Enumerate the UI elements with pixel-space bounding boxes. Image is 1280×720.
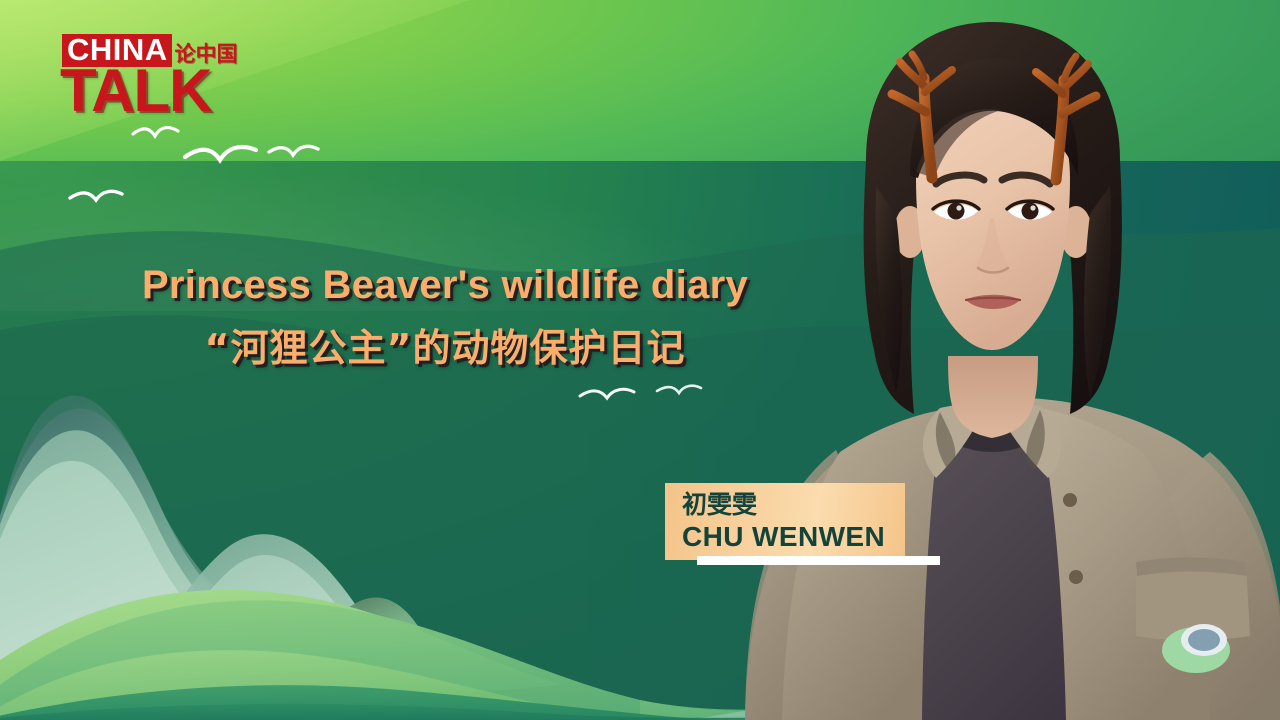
bird-icon bbox=[133, 128, 178, 136]
iris-left bbox=[948, 203, 965, 220]
jacket-button bbox=[1063, 493, 1077, 507]
program-logo[interactable]: CHINA 论中国 TALK bbox=[62, 33, 277, 121]
broadcast-graphic: CHINA 论中国 TALK Princess Beaver's wildlif… bbox=[0, 0, 1280, 720]
jacket-button bbox=[1069, 570, 1083, 584]
bird-icon bbox=[185, 147, 256, 160]
title-block: Princess Beaver's wildlife diary “河狸公主”的… bbox=[0, 263, 890, 372]
guest-name-english: CHU WENWEN bbox=[682, 521, 905, 553]
bird-icon bbox=[70, 191, 122, 200]
iris-right bbox=[1022, 203, 1039, 220]
eye-highlight-left bbox=[956, 205, 961, 210]
title-english: Princess Beaver's wildlife diary bbox=[0, 263, 890, 308]
guest-name-chinese: 初雯雯 bbox=[682, 491, 905, 519]
guest-nameplate: 初雯雯 CHU WENWEN bbox=[665, 483, 905, 560]
eye-highlight-right bbox=[1030, 205, 1035, 210]
nameplate-underline bbox=[697, 556, 940, 565]
bird-icon bbox=[269, 146, 318, 155]
jacket-left-front bbox=[782, 410, 942, 720]
title-chinese: “河狸公主”的动物保护日记 bbox=[0, 317, 890, 372]
logo-talk-text: TALK bbox=[60, 61, 277, 121]
